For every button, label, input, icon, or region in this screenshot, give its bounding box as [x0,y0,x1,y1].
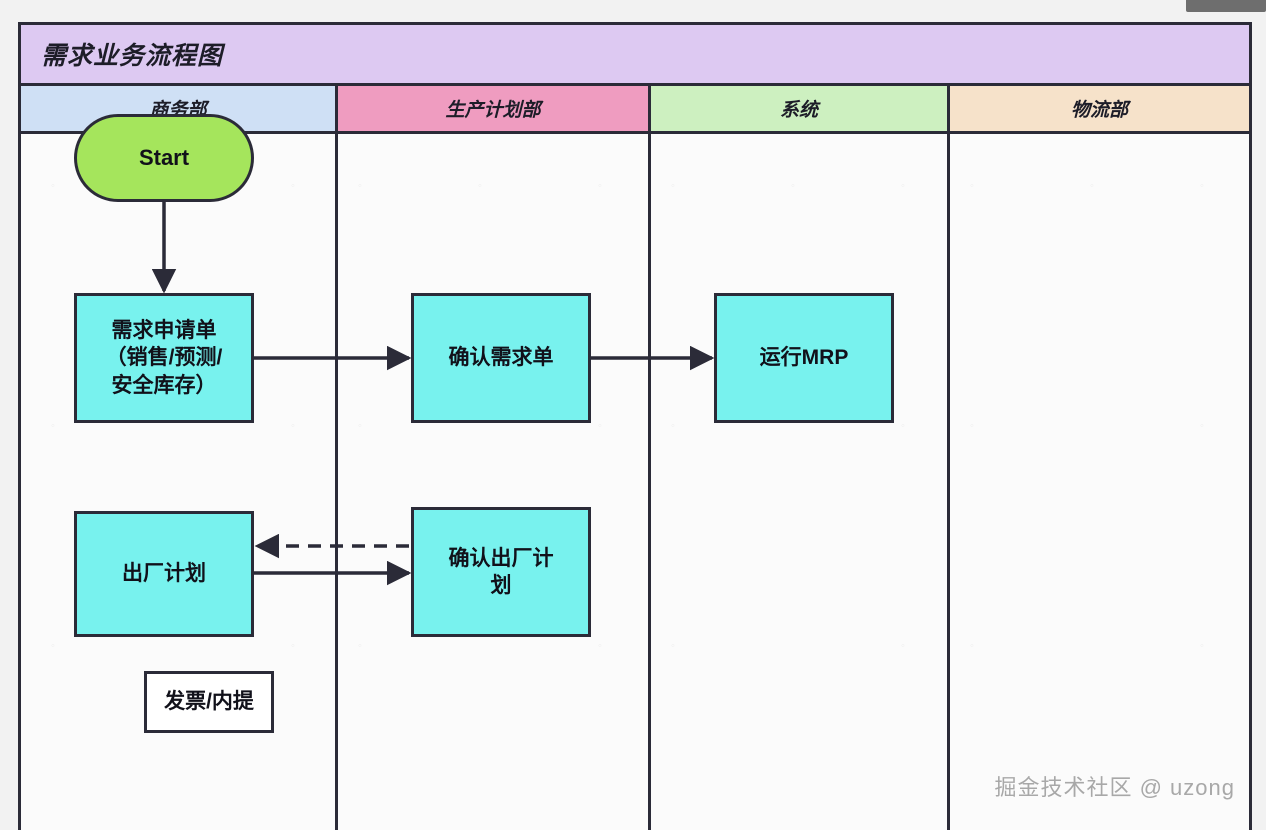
node-start[interactable]: Start [74,114,254,202]
node-label: 发票/内提 [158,688,260,715]
flowchart-diagram: 需求业务流程图 商务部 生产计划部 系统 物流部 ◦ ◦ ◦ ◦ ◦ ◦ ◦ ◦… [18,22,1252,830]
node-run-mrp[interactable]: 运行MRP [714,293,894,423]
node-label: 确认需求单 [443,344,560,371]
node-label: 出厂计划 [116,560,212,587]
node-confirm-factory-plan[interactable]: 确认出厂计 划 [411,507,591,637]
node-confirm-demand[interactable]: 确认需求单 [411,293,591,423]
node-factory-plan[interactable]: 出厂计划 [74,511,254,637]
site-watermark: 掘金技术社区 @ uzong [995,770,1236,802]
node-demand-request[interactable]: 需求申请单 （销售/预测/ 安全库存） [74,293,254,423]
horizontal-scrollbar-thumb[interactable] [1186,0,1266,12]
node-label: Start [133,144,195,173]
node-invoice-internal[interactable]: 发票/内提 [144,671,274,733]
node-label: 需求申请单 （销售/预测/ 安全库存） [100,317,229,399]
node-label: 运行MRP [754,344,855,371]
node-label: 确认出厂计 划 [443,545,560,600]
